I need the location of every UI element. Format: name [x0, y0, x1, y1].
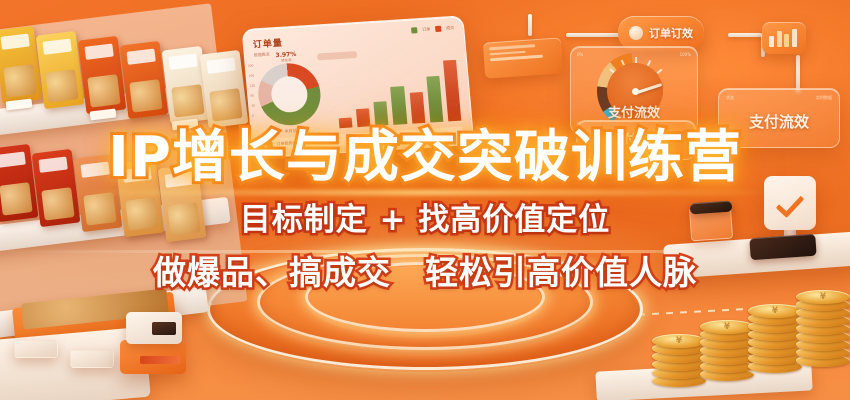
counter-box: [70, 350, 114, 368]
info-label-card[interactable]: [483, 37, 563, 78]
bar: [374, 101, 389, 126]
headline-underglow: [75, 190, 775, 195]
node-bar: [777, 31, 782, 47]
snack-pack: [200, 50, 249, 128]
right-card-mini-left: 状态: [726, 95, 734, 101]
y-tick: 80: [250, 93, 256, 97]
gauge-needle: [635, 83, 663, 95]
pill-label: 订单订效: [649, 25, 693, 41]
order-efficiency-pill[interactable]: 订单订效: [618, 16, 704, 50]
gauge-card-max-label: 100%: [680, 52, 691, 57]
bar: [426, 76, 443, 123]
gauge-card-label: 支付流效: [571, 102, 697, 121]
legend-label-deal: 成交: [446, 25, 455, 31]
gauge-card-min-label: 0%: [577, 52, 583, 57]
bar: [409, 92, 425, 124]
bar: [443, 60, 461, 121]
pill-status-icon: [629, 26, 643, 40]
y-tick: 0: [252, 113, 258, 117]
flow-wire-right: [728, 33, 762, 37]
pos-terminal-strip: [140, 356, 180, 364]
bar-chart: [333, 47, 461, 128]
donut-chart: [256, 61, 323, 127]
node-bar: [784, 34, 789, 47]
flow-wire-left: [566, 33, 620, 37]
right-card-mini-right: 实时数据: [816, 95, 832, 101]
legend-label-order: 订单: [422, 26, 431, 32]
y-tick: 120: [249, 83, 255, 87]
node-bar: [769, 36, 774, 47]
node-bar: [792, 29, 797, 47]
dashboard-y-axis: 200 160 120 80 40 0: [248, 64, 258, 118]
legend-swatch-order: [411, 27, 418, 33]
y-tick: 160: [248, 73, 254, 77]
counter-box: [14, 340, 58, 358]
subheadline-2: 做爆品、搞成交 轻松引高价值人脉: [0, 256, 850, 289]
legend-swatch-deal: [435, 26, 442, 32]
headline: IP增长与成交突破训练营: [0, 130, 850, 186]
pos-terminal-screen: [152, 322, 176, 335]
gauge-hub: [632, 88, 639, 95]
flow-wire-down-left: [528, 14, 532, 36]
y-tick: 200: [248, 64, 254, 68]
metrics-node[interactable]: [762, 22, 806, 54]
y-tick: 40: [251, 103, 257, 107]
bar: [391, 86, 407, 125]
promotional-banner: 订单量 数据概览 订单 成交 200 160 120 80 40 0 3.97%…: [0, 0, 850, 400]
subheadline-1: 目标制定 + 找高价值定位: [0, 205, 850, 236]
